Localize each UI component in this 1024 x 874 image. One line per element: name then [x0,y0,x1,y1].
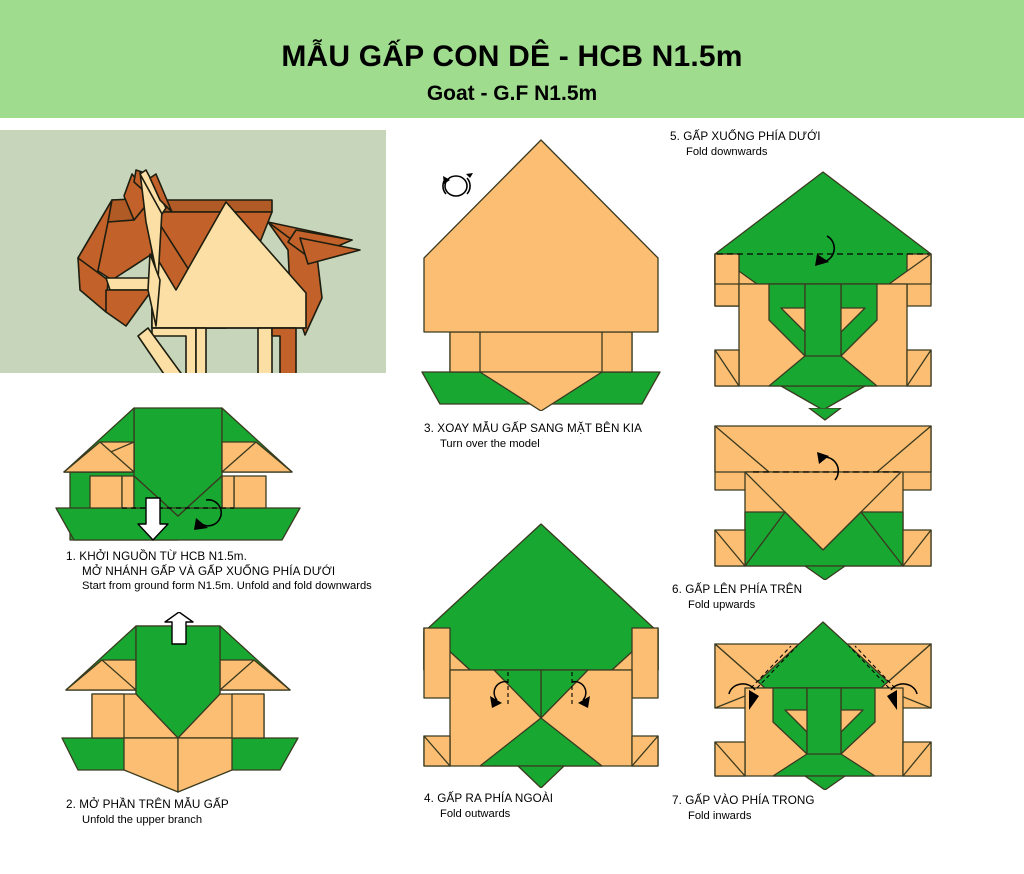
step-4-diagram [410,520,678,788]
step-3: 3. XOAY MẪU GẤP SANG MẶT BÊN KIA Turn ov… [410,136,678,411]
header-banner: MẪU GẤP CON DÊ - HCB N1.5m Goat - G.F N1… [0,0,1024,118]
step-2-diagram [48,612,308,794]
step-6-diagram [705,408,945,580]
step-2: 2. MỞ PHẦN TRÊN MẪU GẤP Unfold the upper… [48,612,308,794]
finished-model-panel [0,130,386,373]
step-2-caption-vi-1: 2. MỞ PHẦN TRÊN MẪU GẤP [66,798,229,813]
step-6-caption: 6. GẤP LÊN PHÍA TRÊN Fold upwards [672,583,802,612]
step-1-diagram [48,398,308,546]
step-7-figure-wrap [705,618,945,790]
page-title: MẪU GẤP CON DÊ - HCB N1.5m [0,40,1024,74]
step-1-caption-vi-2: MỞ NHÁNH GẤP VÀ GẤP XUỐNG PHÍA DƯỚI [66,565,372,580]
step-4-caption-vi-1: 4. GẤP RA PHÍA NGOÀI [424,792,553,807]
step-3-caption: 3. XOAY MẪU GẤP SANG MẶT BÊN KIA Turn ov… [424,422,642,451]
step-6-caption-vi-1: 6. GẤP LÊN PHÍA TRÊN [672,583,802,598]
step-5-figure-wrap [705,170,945,410]
step-2-caption: 2. MỞ PHẦN TRÊN MẪU GẤP Unfold the upper… [66,798,229,827]
step-1: 1. KHỞI NGUỒN TỪ HCB N1.5m. MỞ NHÁNH GẤP… [48,398,308,546]
step-3-caption-vi-1: 3. XOAY MẪU GẤP SANG MẶT BÊN KIA [424,422,642,437]
step-6-caption-en: Fold upwards [672,598,802,613]
step-5-caption: 5. GẤP XUỐNG PHÍA DƯỚI Fold downwards [670,130,821,159]
step-1-caption: 1. KHỞI NGUỒN TỪ HCB N1.5m. MỞ NHÁNH GẤP… [66,550,372,594]
step-5-caption-en: Fold downwards [670,145,821,160]
step-7-diagram [705,618,945,790]
step-4-caption: 4. GẤP RA PHÍA NGOÀI Fold outwards [424,792,553,821]
page-subtitle: Goat - G.F N1.5m [0,82,1024,106]
step-5-caption-vi-1: 5. GẤP XUỐNG PHÍA DƯỚI [670,130,821,145]
step-2-caption-en: Unfold the upper branch [66,813,229,828]
step-7-caption-vi-1: 7. GẤP VÀO PHÍA TRONG [672,794,815,809]
step-1-caption-vi-1: 1. KHỞI NGUỒN TỪ HCB N1.5m. [66,550,372,565]
step-5-diagram [705,170,945,410]
step-7-caption: 7. GẤP VÀO PHÍA TRONG Fold inwards [672,794,815,823]
step-4-caption-en: Fold outwards [424,807,553,822]
step-1-caption-en: Start from ground form N1.5m. Unfold and… [66,579,372,594]
step-3-caption-en: Turn over the model [424,437,642,452]
step-6-figure-wrap [705,408,945,580]
step-3-diagram [410,136,678,411]
step-4: 4. GẤP RA PHÍA NGOÀI Fold outwards [410,520,678,788]
step-7-caption-en: Fold inwards [672,809,815,824]
goat-origami-illustration [0,130,386,373]
